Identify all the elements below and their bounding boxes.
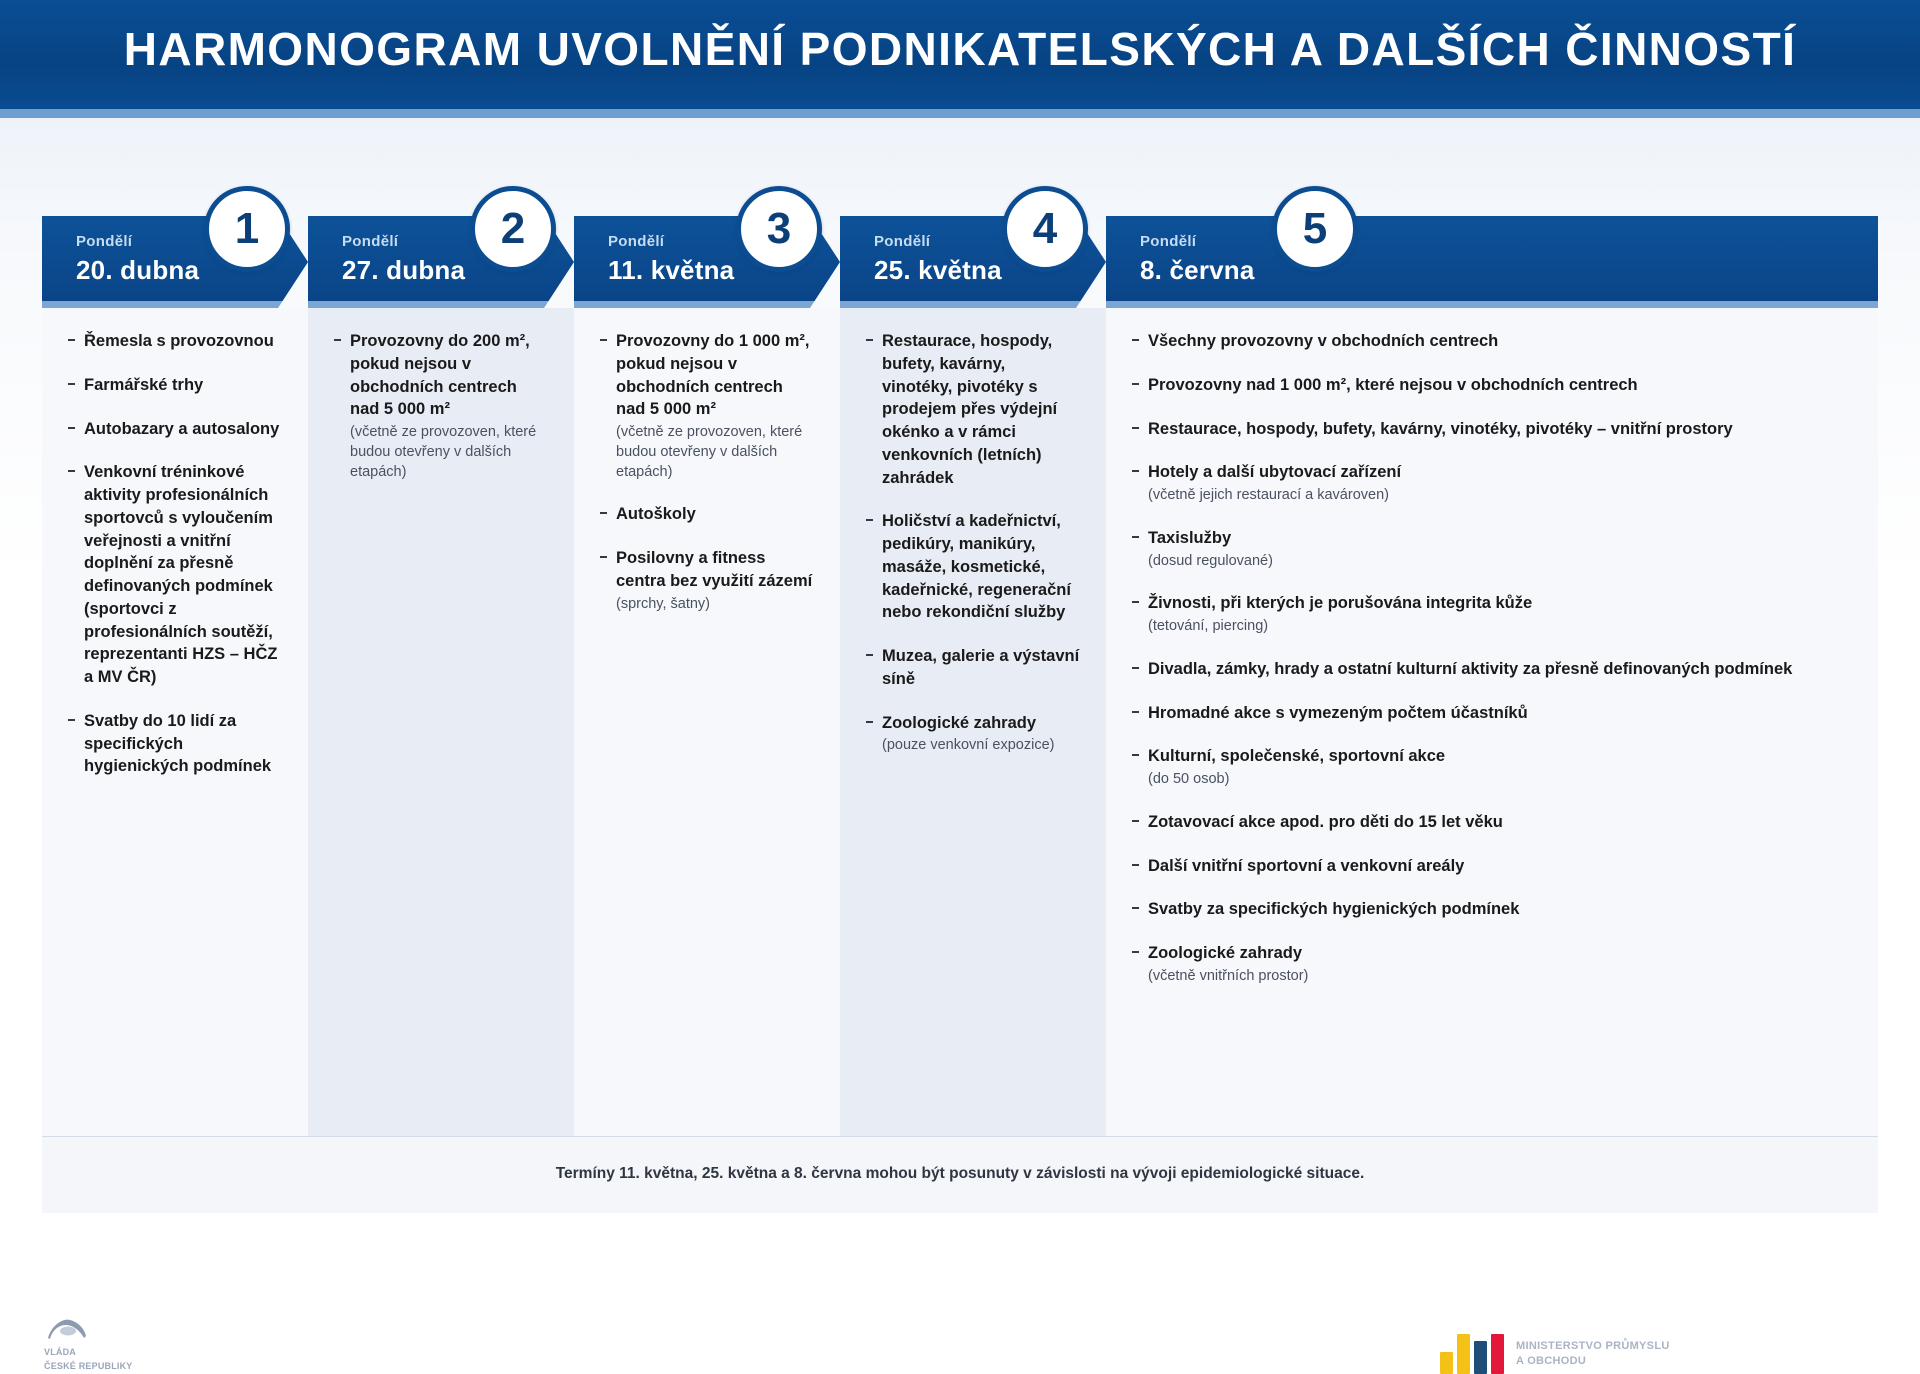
list-item-text: Holičství a kadeřnictví, pedikúry, manik… [882, 512, 1071, 621]
stage-badge-number-4: 4 [1033, 204, 1057, 253]
list-item: Hotely a další ubytovací zařízení(včetně… [1132, 461, 1852, 505]
list-item: Všechny provozovny v obchodních centrech [1132, 330, 1852, 353]
stage-weekday-2: Pondělí [342, 233, 465, 250]
list-item-text: Živnosti, při kterých je porušována inte… [1148, 594, 1532, 612]
stage-item-list-3: Provozovny do 1 000 m², pokud nejsou v o… [600, 330, 814, 614]
list-item: Řemesla s provozovnou [68, 330, 282, 353]
stage-date-4: 25. května [874, 255, 1002, 286]
stage-badge-4[interactable]: 4 [1002, 186, 1088, 272]
stage-item-list-1: Řemesla s provozovnouFarmářské trhyAutob… [68, 330, 282, 778]
stage-item-list-4: Restaurace, hospody, bufety, kavárny, vi… [866, 330, 1080, 756]
list-item: Farmářské trhy [68, 374, 282, 397]
stage-badge-5[interactable]: 5 [1272, 186, 1358, 272]
mpo-bar-red [1491, 1334, 1504, 1374]
stage-badge-2[interactable]: 2 [470, 186, 556, 272]
government-logo: VLÁDA ČESKÉ REPUBLIKY [44, 1314, 133, 1373]
footnote-band: Termíny 11. května, 25. května a 8. červ… [42, 1136, 1878, 1213]
list-item-text: Všechny provozovny v obchodních centrech [1148, 332, 1498, 350]
list-item-subtext: (sprchy, šatny) [616, 595, 814, 615]
list-item-text: Provozovny nad 1 000 m², které nejsou v … [1148, 376, 1638, 394]
list-item-text: Hromadné akce s vymezeným počtem účastní… [1148, 704, 1528, 722]
list-item-text: Taxislužby [1148, 529, 1231, 547]
stage-column-4: Restaurace, hospody, bufety, kavárny, vi… [840, 308, 1106, 1138]
list-item-text: Venkovní tréninkové aktivity profesionál… [84, 463, 277, 686]
list-item: Divadla, zámky, hrady a ostatní kulturní… [1132, 658, 1852, 681]
stage-badge-number-1: 1 [235, 204, 259, 253]
stage-badge-1[interactable]: 1 [204, 186, 290, 272]
list-item: Zoologické zahrady(pouze venkovní expozi… [866, 712, 1080, 756]
list-item: Provozovny nad 1 000 m², které nejsou v … [1132, 374, 1852, 397]
list-item-subtext: (včetně jejich restaurací a kavároven) [1148, 486, 1852, 506]
footnote-text: Termíny 11. května, 25. května a 8. červ… [42, 1165, 1878, 1183]
list-item-text: Muzea, galerie a výstavní síně [882, 647, 1079, 688]
stage-item-list-5: Všechny provozovny v obchodních centrech… [1132, 330, 1852, 987]
mpo-bars-icon [1440, 1334, 1504, 1374]
mpo-caption-line1: MINISTERSTVO PRŮMYSLU [1516, 1339, 1670, 1354]
stage-badge-3[interactable]: 3 [736, 186, 822, 272]
list-item-text: Posilovny a fitness centra bez využití z… [616, 549, 812, 590]
stage-item-list-2: Provozovny do 200 m², pokud nejsou v obc… [334, 330, 548, 482]
list-item: Restaurace, hospody, bufety, kavárny, vi… [866, 330, 1080, 489]
list-item-text: Další vnitřní sportovní a venkovní areál… [1148, 857, 1464, 875]
list-item-text: Autobazary a autosalony [84, 420, 279, 438]
list-item-text: Zotavovací akce apod. pro děti do 15 let… [1148, 813, 1503, 831]
government-logo-caption-line1: VLÁDA [44, 1347, 133, 1358]
stage-weekday-3: Pondělí [608, 233, 734, 250]
list-item-text: Kulturní, společenské, sportovní akce [1148, 747, 1445, 765]
list-item-subtext: (do 50 osob) [1148, 770, 1852, 790]
list-item: Autobazary a autosalony [68, 418, 282, 441]
stage-badge-number-5: 5 [1303, 204, 1327, 253]
stage-column-2: Provozovny do 200 m², pokud nejsou v obc… [308, 308, 574, 1138]
stage-header-strip: Pondělí20. dubnaPondělí27. dubnaPondělí1… [42, 216, 1878, 308]
stage-date-3: 11. května [608, 255, 734, 286]
list-item: Holičství a kadeřnictví, pedikúry, manik… [866, 510, 1080, 624]
list-item-subtext: (včetně ze provozoven, které budou otevř… [616, 423, 814, 482]
stage-column-5: Všechny provozovny v obchodních centrech… [1106, 308, 1878, 1138]
list-item-text: Restaurace, hospody, bufety, kavárny, vi… [882, 332, 1057, 487]
government-emblem-icon [44, 1314, 90, 1344]
list-item-text: Zoologické zahrady [882, 714, 1036, 732]
list-item-text: Hotely a další ubytovací zařízení [1148, 463, 1401, 481]
list-item-subtext: (pouze venkovní expozice) [882, 736, 1080, 756]
page-title: HARMONOGRAM UVOLNĚNÍ PODNIKATELSKÝCH A D… [0, 22, 1920, 76]
mpo-bar-yellow-1 [1440, 1352, 1453, 1374]
stage-weekday-5: Pondělí [1140, 233, 1255, 250]
list-item-text: Řemesla s provozovnou [84, 332, 274, 350]
list-item: Restaurace, hospody, bufety, kavárny, vi… [1132, 418, 1852, 441]
list-item-text: Provozovny do 200 m², pokud nejsou v obc… [350, 332, 530, 418]
list-item-text: Autoškoly [616, 505, 696, 523]
stage-header-5[interactable]: Pondělí8. června [1106, 216, 1878, 308]
list-item: Posilovny a fitness centra bez využití z… [600, 547, 814, 614]
mpo-bar-yellow-2 [1457, 1334, 1470, 1374]
list-item: Venkovní tréninkové aktivity profesionál… [68, 461, 282, 689]
mpo-caption-line2: A OBCHODU [1516, 1354, 1670, 1369]
mpo-bar-blue [1474, 1341, 1487, 1374]
list-item: Provozovny do 200 m², pokud nejsou v obc… [334, 330, 548, 482]
stage-date-5: 8. června [1140, 255, 1255, 286]
list-item: Muzea, galerie a výstavní síně [866, 645, 1080, 691]
stage-date-1: 20. dubna [76, 255, 199, 286]
list-item-text: Provozovny do 1 000 m², pokud nejsou v o… [616, 332, 809, 418]
infographic-canvas: Pondělí20. dubnaPondělí27. dubnaPondělí1… [0, 118, 1920, 1284]
stage-weekday-1: Pondělí [76, 233, 199, 250]
list-item-text: Divadla, zámky, hrady a ostatní kulturní… [1148, 660, 1792, 678]
list-item: Taxislužby(dosud regulované) [1132, 527, 1852, 571]
list-item: Kulturní, společenské, sportovní akce(do… [1132, 745, 1852, 789]
stage-date-2: 27. dubna [342, 255, 465, 286]
header-bar: HARMONOGRAM UVOLNĚNÍ PODNIKATELSKÝCH A D… [0, 0, 1920, 118]
mpo-logo: MINISTERSTVO PRŮMYSLU A OBCHODU [1440, 1334, 1670, 1374]
stage-column-1: Řemesla s provozovnouFarmářské trhyAutob… [42, 308, 308, 1138]
list-item: Zotavovací akce apod. pro děti do 15 let… [1132, 811, 1852, 834]
list-item-subtext: (tetování, piercing) [1148, 617, 1852, 637]
list-item-text: Restaurace, hospody, bufety, kavárny, vi… [1148, 420, 1733, 438]
list-item-subtext: (dosud regulované) [1148, 552, 1852, 572]
timeline-panel: Pondělí20. dubnaPondělí27. dubnaPondělí1… [42, 216, 1878, 1228]
list-item: Zoologické zahrady(včetně vnitřních pros… [1132, 942, 1852, 986]
list-item: Hromadné akce s vymezeným počtem účastní… [1132, 702, 1852, 725]
stage-badge-number-3: 3 [767, 204, 791, 253]
list-item: Autoškoly [600, 503, 814, 526]
list-item: Živnosti, při kterých je porušována inte… [1132, 592, 1852, 636]
stage-column-3: Provozovny do 1 000 m², pokud nejsou v o… [574, 308, 840, 1138]
list-item: Svatby za specifických hygienických podm… [1132, 898, 1852, 921]
list-item: Svatby do 10 lidí za specifických hygien… [68, 710, 282, 778]
list-item-text: Svatby do 10 lidí za specifických hygien… [84, 712, 271, 776]
list-item-subtext: (včetně vnitřních prostor) [1148, 967, 1852, 987]
mpo-logo-caption: MINISTERSTVO PRŮMYSLU A OBCHODU [1516, 1339, 1670, 1369]
list-item: Další vnitřní sportovní a venkovní areál… [1132, 855, 1852, 878]
government-logo-caption-line2: ČESKÉ REPUBLIKY [44, 1361, 133, 1372]
stage-columns: Řemesla s provozovnouFarmářské trhyAutob… [42, 308, 1878, 1138]
list-item: Provozovny do 1 000 m², pokud nejsou v o… [600, 330, 814, 482]
stage-weekday-4: Pondělí [874, 233, 1002, 250]
list-item-text: Svatby za specifických hygienických podm… [1148, 900, 1519, 918]
list-item-text: Farmářské trhy [84, 376, 203, 394]
stage-badge-number-2: 2 [501, 204, 525, 253]
list-item-text: Zoologické zahrady [1148, 944, 1302, 962]
list-item-subtext: (včetně ze provozoven, které budou otevř… [350, 423, 548, 482]
